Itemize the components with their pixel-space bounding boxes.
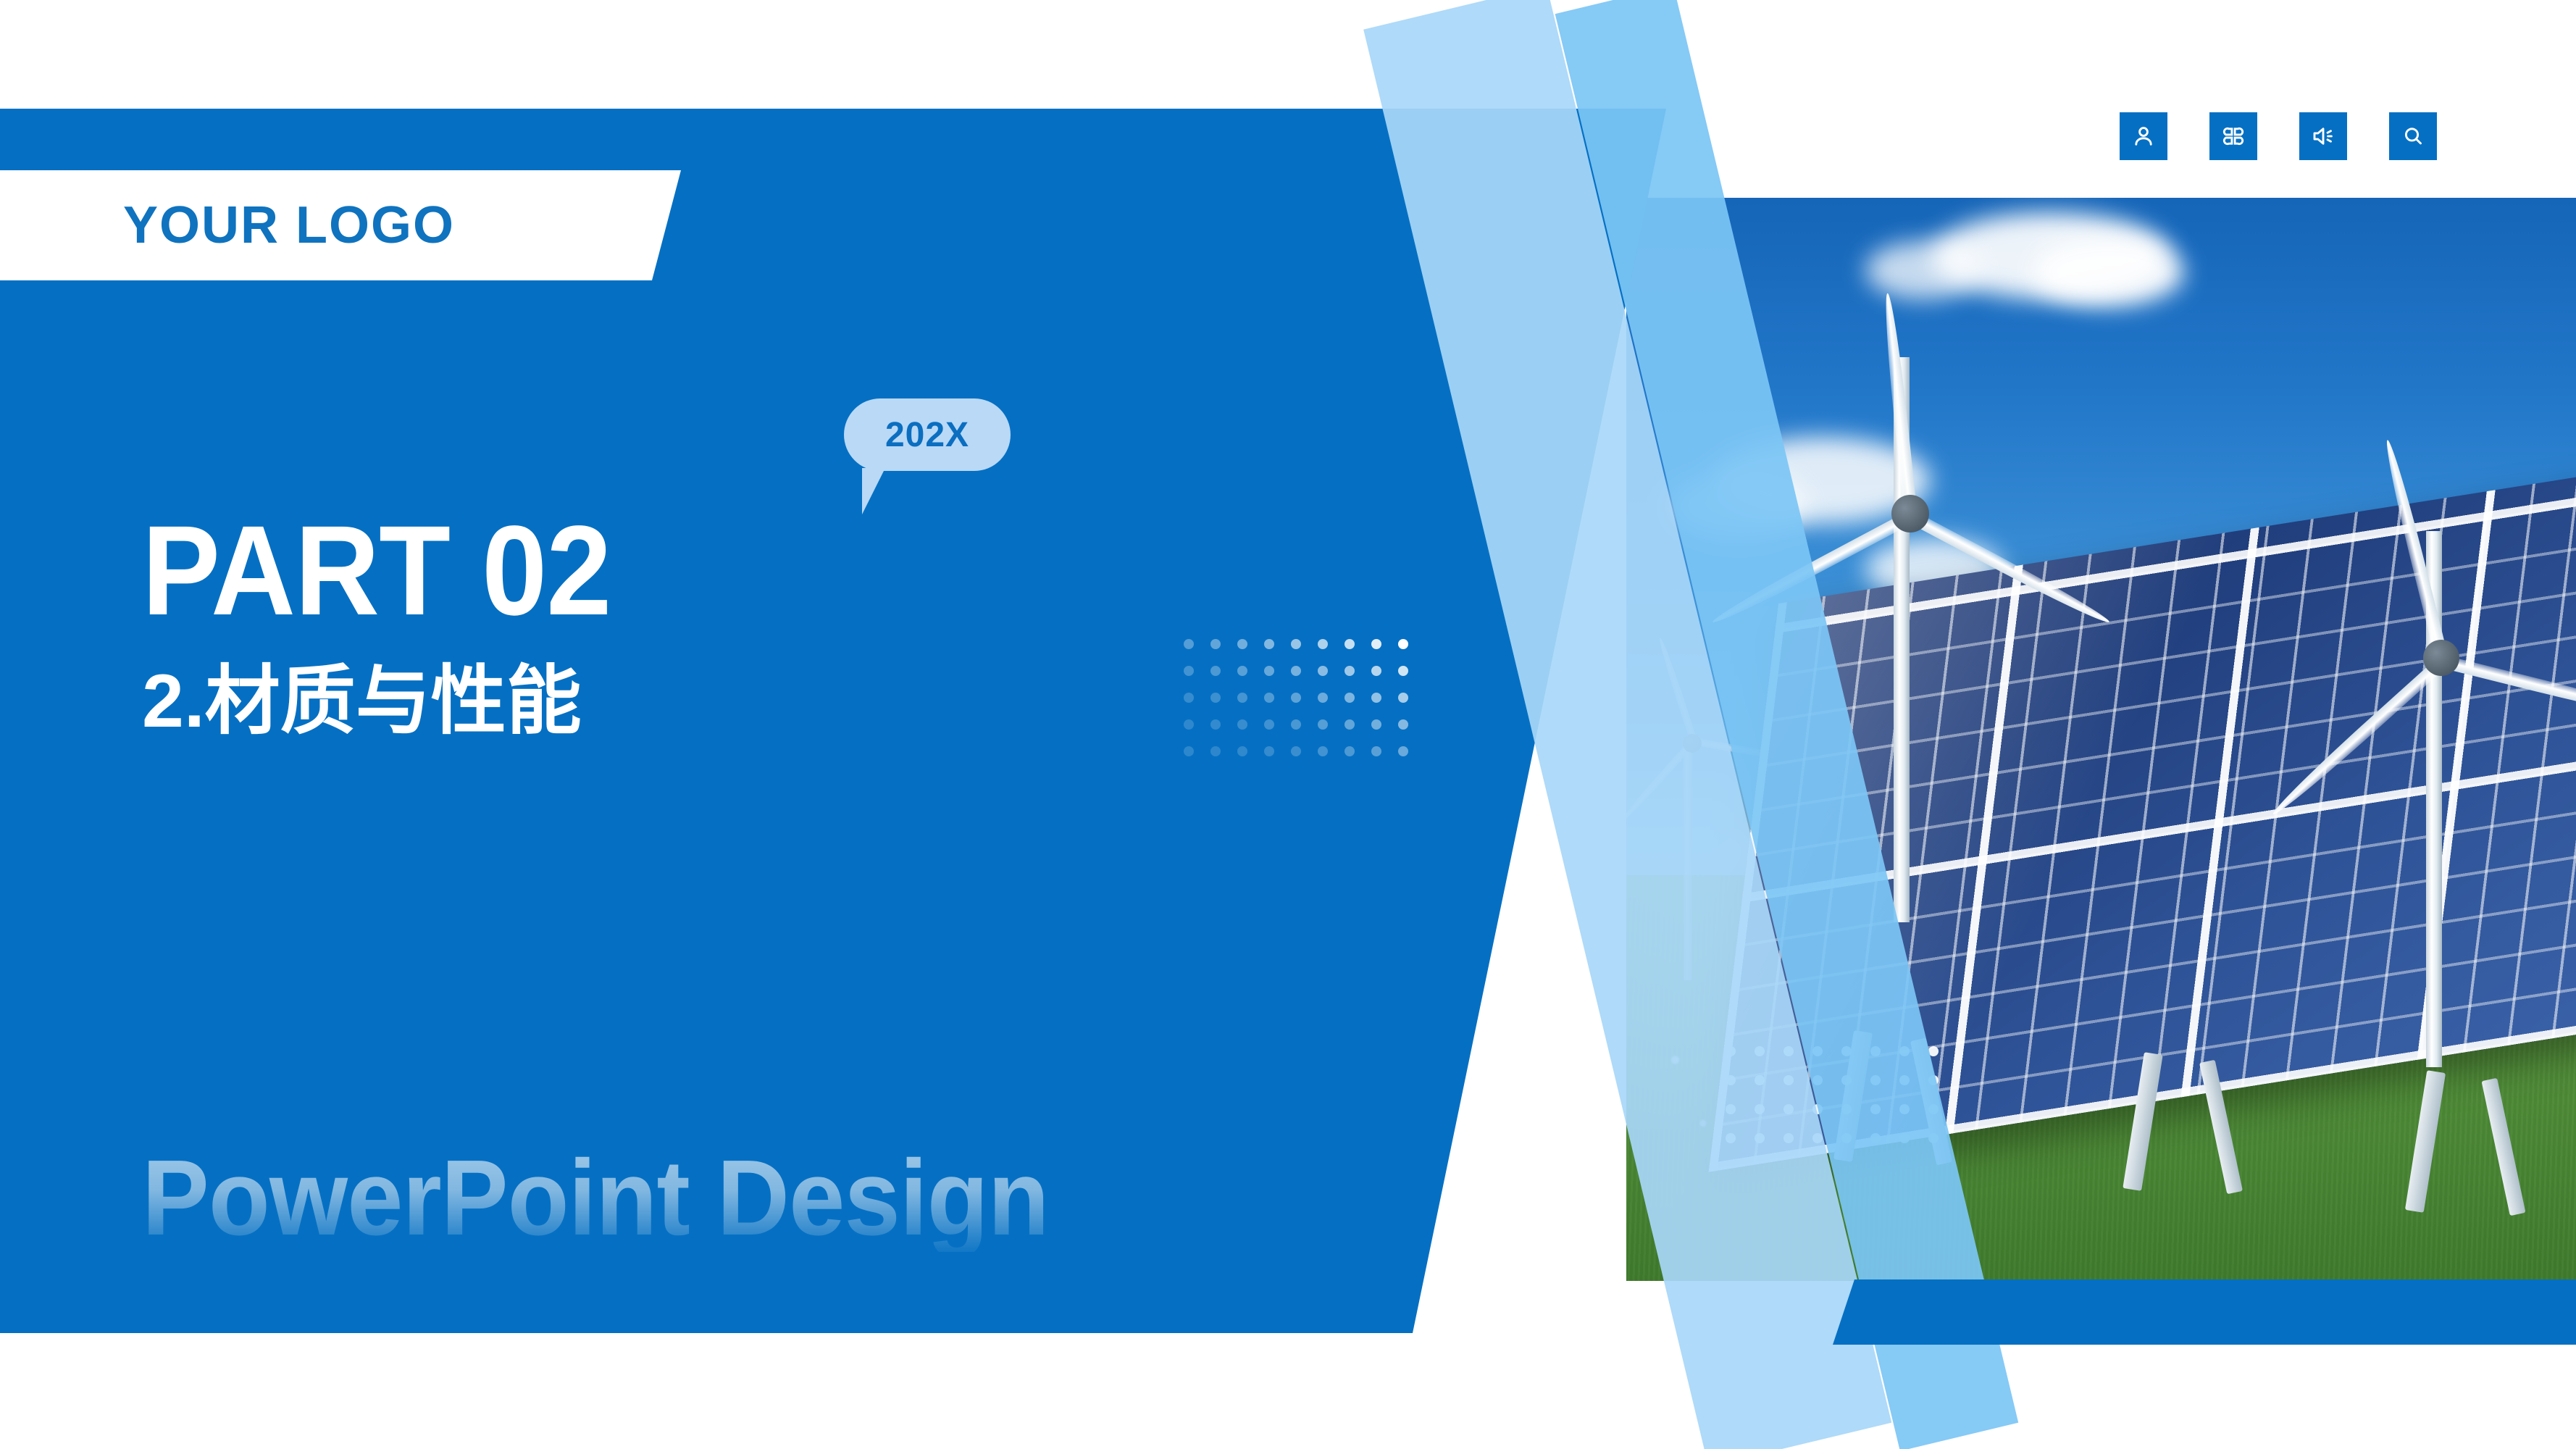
user-icon [2130,123,2157,149]
year-badge-label: 202X [885,415,969,455]
dot [1291,639,1301,649]
dot [1371,666,1381,676]
dot [1398,746,1408,756]
dot [1210,666,1221,676]
dot [1184,693,1194,703]
dot [1318,639,1328,649]
dot [1398,719,1408,730]
volume-icon-button[interactable] [2299,112,2347,160]
dot [1237,693,1247,703]
cloud [2032,238,2184,306]
apps-grid-icon-button[interactable] [2209,112,2257,160]
dot [1184,639,1194,649]
volume-icon [2310,123,2336,149]
search-icon-button[interactable] [2389,112,2437,160]
dot [1318,746,1328,756]
dot [1210,639,1221,649]
dot [1345,719,1355,730]
turbine-blade [2441,655,2576,723]
dot [1184,666,1194,676]
user-icon-button[interactable] [2120,112,2167,160]
dot-grid-top [1184,639,1408,756]
dot [1371,746,1381,756]
dot [1291,746,1301,756]
dot [1264,746,1274,756]
dot [1371,639,1381,649]
dot [1398,639,1408,649]
dot [1210,719,1221,730]
search-icon [2400,123,2426,149]
wind-turbine-right [2278,299,2576,1067]
dot [1264,719,1274,730]
turbine-blade [2269,656,2447,819]
dot [1318,693,1328,703]
turbine-hub [1891,495,1929,533]
dot [1264,639,1274,649]
watermark-text: PowerPoint Design [142,1145,1049,1252]
dot [1237,639,1247,649]
dot [1345,639,1355,649]
dot [1371,719,1381,730]
dot [1291,693,1301,703]
dot [1237,746,1247,756]
logo-text: YOUR LOGO [123,196,455,255]
dot [1264,666,1274,676]
dot [1398,666,1408,676]
dot [1398,693,1408,703]
dot [1291,666,1301,676]
presentation-slide: YOUR LOGO 202X PART 02 2.材质与性能 PowerPoin… [0,0,2576,1449]
year-badge: 202X [844,398,1011,471]
bottom-accent-bar [1833,1279,2576,1345]
dot [1318,666,1328,676]
header-icon-bar [2120,112,2437,160]
dot [1210,746,1221,756]
page-subtitle: 2.材质与性能 [142,664,582,739]
page-title: PART 02 [142,507,611,635]
logo-banner: YOUR LOGO [0,170,681,280]
dot [1345,666,1355,676]
dot [1184,719,1194,730]
turbine-hub [2423,640,2459,676]
badge-tail [862,468,885,514]
dot [1345,693,1355,703]
dot [1237,666,1247,676]
dot [1371,693,1381,703]
dot [1345,746,1355,756]
dot [1291,719,1301,730]
apps-grid-icon [2220,123,2246,149]
dot [1264,693,1274,703]
dot [1318,719,1328,730]
dot [1184,746,1194,756]
dot [1237,719,1247,730]
dot [1210,693,1221,703]
